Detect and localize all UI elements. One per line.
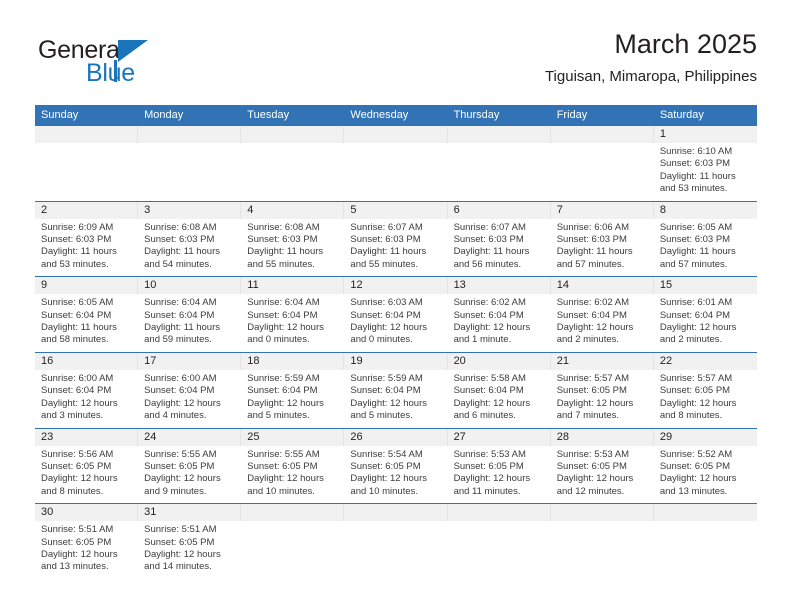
sunset-text: Sunset: 6:04 PM	[41, 310, 132, 322]
sunrise-text: Sunrise: 5:57 AM	[660, 373, 751, 385]
daylight-text: Daylight: 12 hours and 7 minutes.	[557, 398, 648, 423]
calendar-day-cell-empty	[654, 504, 757, 579]
day-details: Sunrise: 5:54 AMSunset: 6:05 PMDaylight:…	[344, 446, 447, 504]
daylight-text: Daylight: 12 hours and 13 minutes.	[41, 549, 132, 574]
daylight-text: Daylight: 12 hours and 8 minutes.	[41, 473, 132, 498]
sunrise-text: Sunrise: 5:55 AM	[247, 449, 338, 461]
calendar-day-cell[interactable]: 10Sunrise: 6:04 AMSunset: 6:04 PMDayligh…	[138, 277, 241, 352]
day-number-band: 29	[654, 429, 757, 446]
daylight-text: Daylight: 12 hours and 13 minutes.	[660, 473, 751, 498]
day-number: 25	[241, 429, 343, 445]
day-number: 4	[241, 202, 343, 218]
day-number: 7	[551, 202, 653, 218]
calendar-day-cell[interactable]: 18Sunrise: 5:59 AMSunset: 6:04 PMDayligh…	[241, 353, 344, 428]
sunset-text: Sunset: 6:04 PM	[557, 310, 648, 322]
calendar-day-cell[interactable]: 6Sunrise: 6:07 AMSunset: 6:03 PMDaylight…	[448, 202, 551, 277]
day-number-band: 22	[654, 353, 757, 370]
day-details: Sunrise: 6:10 AMSunset: 6:03 PMDaylight:…	[654, 143, 757, 201]
day-number-band: 14	[551, 277, 654, 294]
day-details: Sunrise: 5:53 AMSunset: 6:05 PMDaylight:…	[551, 446, 654, 504]
day-details: Sunrise: 6:03 AMSunset: 6:04 PMDaylight:…	[344, 294, 447, 352]
day-number-band: 20	[448, 353, 551, 370]
day-number-band	[344, 504, 447, 521]
day-details: Sunrise: 6:08 AMSunset: 6:03 PMDaylight:…	[138, 219, 241, 277]
sunset-text: Sunset: 6:05 PM	[660, 385, 751, 397]
day-number: 14	[551, 277, 653, 293]
day-number: 13	[448, 277, 550, 293]
calendar-day-cell[interactable]: 23Sunrise: 5:56 AMSunset: 6:05 PMDayligh…	[35, 429, 138, 504]
sunrise-text: Sunrise: 5:59 AM	[247, 373, 338, 385]
page-subtitle: Tiguisan, Mimaropa, Philippines	[545, 67, 757, 87]
calendar-day-cell[interactable]: 3Sunrise: 6:08 AMSunset: 6:03 PMDaylight…	[138, 202, 241, 277]
page-title: March 2025	[545, 28, 757, 60]
daylight-text: Daylight: 12 hours and 2 minutes.	[557, 322, 648, 347]
day-number-band: 9	[35, 277, 138, 294]
calendar-day-cell[interactable]: 7Sunrise: 6:06 AMSunset: 6:03 PMDaylight…	[551, 202, 654, 277]
sunrise-text: Sunrise: 6:00 AM	[144, 373, 235, 385]
daylight-text: Daylight: 11 hours and 57 minutes.	[660, 246, 751, 271]
sunrise-text: Sunrise: 5:52 AM	[660, 449, 751, 461]
calendar-weeks: 1Sunrise: 6:10 AMSunset: 6:03 PMDaylight…	[35, 126, 757, 579]
day-number: 5	[344, 202, 446, 218]
calendar-day-cell[interactable]: 14Sunrise: 6:02 AMSunset: 6:04 PMDayligh…	[551, 277, 654, 352]
calendar-week-row: 30Sunrise: 5:51 AMSunset: 6:05 PMDayligh…	[35, 503, 757, 579]
calendar-day-cell[interactable]: 11Sunrise: 6:04 AMSunset: 6:04 PMDayligh…	[241, 277, 344, 352]
day-number-band: 17	[138, 353, 241, 370]
calendar-day-cell-empty	[551, 126, 654, 201]
sunrise-text: Sunrise: 5:51 AM	[41, 524, 132, 536]
day-details: Sunrise: 5:52 AMSunset: 6:05 PMDaylight:…	[654, 446, 757, 504]
sunset-text: Sunset: 6:04 PM	[247, 385, 338, 397]
day-number-band: 18	[241, 353, 344, 370]
day-number-band: 26	[344, 429, 447, 446]
day-number-band: 28	[551, 429, 654, 446]
calendar-day-cell[interactable]: 1Sunrise: 6:10 AMSunset: 6:03 PMDaylight…	[654, 126, 757, 201]
sunrise-text: Sunrise: 5:56 AM	[41, 449, 132, 461]
daylight-text: Daylight: 12 hours and 11 minutes.	[454, 473, 545, 498]
day-details: Sunrise: 6:00 AMSunset: 6:04 PMDaylight:…	[35, 370, 138, 428]
day-details: Sunrise: 5:59 AMSunset: 6:04 PMDaylight:…	[241, 370, 344, 428]
day-number-band: 4	[241, 202, 344, 219]
day-details	[344, 521, 447, 529]
calendar-day-cell[interactable]: 27Sunrise: 5:53 AMSunset: 6:05 PMDayligh…	[448, 429, 551, 504]
day-number-band: 31	[138, 504, 241, 521]
weekday-header-tuesday: Tuesday	[241, 105, 344, 126]
day-number: 28	[551, 429, 653, 445]
calendar-day-cell[interactable]: 13Sunrise: 6:02 AMSunset: 6:04 PMDayligh…	[448, 277, 551, 352]
calendar-day-cell[interactable]: 20Sunrise: 5:58 AMSunset: 6:04 PMDayligh…	[448, 353, 551, 428]
day-number-band: 21	[551, 353, 654, 370]
calendar-day-cell-empty	[551, 504, 654, 579]
sunset-text: Sunset: 6:04 PM	[247, 310, 338, 322]
calendar-day-cell-empty	[448, 504, 551, 579]
page-header: General Blue March 2025 Tiguisan, Mimaro…	[35, 28, 757, 100]
sunrise-text: Sunrise: 6:04 AM	[247, 297, 338, 309]
day-number: 9	[35, 277, 137, 293]
daylight-text: Daylight: 12 hours and 2 minutes.	[660, 322, 751, 347]
sunset-text: Sunset: 6:04 PM	[144, 310, 235, 322]
day-number: 19	[344, 353, 446, 369]
day-number: 16	[35, 353, 137, 369]
daylight-text: Daylight: 12 hours and 5 minutes.	[247, 398, 338, 423]
day-number: 2	[35, 202, 137, 218]
day-number-band: 10	[138, 277, 241, 294]
sunset-text: Sunset: 6:05 PM	[144, 537, 235, 549]
calendar-day-cell[interactable]: 30Sunrise: 5:51 AMSunset: 6:05 PMDayligh…	[35, 504, 138, 579]
sunrise-text: Sunrise: 5:57 AM	[557, 373, 648, 385]
day-number-band	[448, 504, 551, 521]
day-number-band: 11	[241, 277, 344, 294]
sunset-text: Sunset: 6:05 PM	[41, 537, 132, 549]
day-number: 23	[35, 429, 137, 445]
day-number-band: 7	[551, 202, 654, 219]
day-details: Sunrise: 6:01 AMSunset: 6:04 PMDaylight:…	[654, 294, 757, 352]
daylight-text: Daylight: 11 hours and 55 minutes.	[247, 246, 338, 271]
daylight-text: Daylight: 11 hours and 54 minutes.	[144, 246, 235, 271]
day-number-band	[654, 504, 757, 521]
day-number: 27	[448, 429, 550, 445]
sunset-text: Sunset: 6:04 PM	[454, 310, 545, 322]
sunset-text: Sunset: 6:05 PM	[41, 461, 132, 473]
sunset-text: Sunset: 6:04 PM	[350, 310, 441, 322]
calendar-day-cell[interactable]: 28Sunrise: 5:53 AMSunset: 6:05 PMDayligh…	[551, 429, 654, 504]
sunrise-text: Sunrise: 6:02 AM	[454, 297, 545, 309]
day-details: Sunrise: 6:07 AMSunset: 6:03 PMDaylight:…	[344, 219, 447, 277]
day-number-band: 30	[35, 504, 138, 521]
calendar-day-cell[interactable]: 19Sunrise: 5:59 AMSunset: 6:04 PMDayligh…	[344, 353, 447, 428]
sunset-text: Sunset: 6:03 PM	[144, 234, 235, 246]
daylight-text: Daylight: 11 hours and 53 minutes.	[660, 171, 751, 196]
calendar-page: General Blue March 2025 Tiguisan, Mimaro…	[0, 0, 792, 612]
day-details: Sunrise: 6:02 AMSunset: 6:04 PMDaylight:…	[448, 294, 551, 352]
day-details: Sunrise: 5:55 AMSunset: 6:05 PMDaylight:…	[138, 446, 241, 504]
day-number-band	[551, 504, 654, 521]
calendar-day-cell[interactable]: 22Sunrise: 5:57 AMSunset: 6:05 PMDayligh…	[654, 353, 757, 428]
daylight-text: Daylight: 12 hours and 0 minutes.	[247, 322, 338, 347]
day-number-band: 25	[241, 429, 344, 446]
sunset-text: Sunset: 6:05 PM	[144, 461, 235, 473]
daylight-text: Daylight: 12 hours and 10 minutes.	[350, 473, 441, 498]
weekday-header-row: SundayMondayTuesdayWednesdayThursdayFrid…	[35, 105, 757, 126]
day-number-band: 5	[344, 202, 447, 219]
sunset-text: Sunset: 6:05 PM	[247, 461, 338, 473]
day-number-band: 3	[138, 202, 241, 219]
day-details	[448, 521, 551, 529]
sunrise-text: Sunrise: 6:05 AM	[41, 297, 132, 309]
sunrise-text: Sunrise: 5:53 AM	[454, 449, 545, 461]
day-number-band: 24	[138, 429, 241, 446]
calendar-day-cell-empty	[241, 126, 344, 201]
daylight-text: Daylight: 12 hours and 1 minute.	[454, 322, 545, 347]
calendar-day-cell[interactable]: 26Sunrise: 5:54 AMSunset: 6:05 PMDayligh…	[344, 429, 447, 504]
calendar-week-row: 23Sunrise: 5:56 AMSunset: 6:05 PMDayligh…	[35, 428, 757, 504]
sunrise-text: Sunrise: 6:10 AM	[660, 146, 751, 158]
sunset-text: Sunset: 6:03 PM	[247, 234, 338, 246]
day-number: 29	[654, 429, 757, 445]
calendar-day-cell-empty	[241, 504, 344, 579]
calendar-day-cell-empty	[448, 126, 551, 201]
day-number-band: 23	[35, 429, 138, 446]
day-details: Sunrise: 6:04 AMSunset: 6:04 PMDaylight:…	[138, 294, 241, 352]
sunrise-text: Sunrise: 5:51 AM	[144, 524, 235, 536]
sunrise-text: Sunrise: 6:04 AM	[144, 297, 235, 309]
sunrise-text: Sunrise: 5:54 AM	[350, 449, 441, 461]
weekday-header-wednesday: Wednesday	[344, 105, 447, 126]
calendar-week-row: 1Sunrise: 6:10 AMSunset: 6:03 PMDaylight…	[35, 126, 757, 201]
sunrise-text: Sunrise: 6:08 AM	[247, 222, 338, 234]
day-details	[448, 143, 551, 151]
sunrise-text: Sunrise: 6:09 AM	[41, 222, 132, 234]
sunrise-text: Sunrise: 5:59 AM	[350, 373, 441, 385]
sunrise-text: Sunrise: 6:07 AM	[454, 222, 545, 234]
day-number-band	[241, 504, 344, 521]
day-number-band	[138, 126, 241, 143]
day-number: 15	[654, 277, 757, 293]
calendar-day-cell[interactable]: 15Sunrise: 6:01 AMSunset: 6:04 PMDayligh…	[654, 277, 757, 352]
daylight-text: Daylight: 12 hours and 0 minutes.	[350, 322, 441, 347]
sunrise-text: Sunrise: 5:53 AM	[557, 449, 648, 461]
day-details: Sunrise: 5:51 AMSunset: 6:05 PMDaylight:…	[138, 521, 241, 579]
sunrise-text: Sunrise: 6:03 AM	[350, 297, 441, 309]
day-details	[241, 143, 344, 151]
day-details	[654, 521, 757, 529]
sunset-text: Sunset: 6:05 PM	[557, 385, 648, 397]
day-number-band: 2	[35, 202, 138, 219]
calendar-day-cell-empty	[35, 126, 138, 201]
day-details: Sunrise: 5:58 AMSunset: 6:04 PMDaylight:…	[448, 370, 551, 428]
calendar-day-cell[interactable]: 17Sunrise: 6:00 AMSunset: 6:04 PMDayligh…	[138, 353, 241, 428]
day-number-band	[551, 126, 654, 143]
sunset-text: Sunset: 6:03 PM	[454, 234, 545, 246]
calendar-day-cell[interactable]: 2Sunrise: 6:09 AMSunset: 6:03 PMDaylight…	[35, 202, 138, 277]
daylight-text: Daylight: 12 hours and 9 minutes.	[144, 473, 235, 498]
day-number-band: 12	[344, 277, 447, 294]
sunset-text: Sunset: 6:03 PM	[660, 158, 751, 170]
sunset-text: Sunset: 6:05 PM	[660, 461, 751, 473]
day-number-band	[344, 126, 447, 143]
day-number: 17	[138, 353, 240, 369]
calendar-day-cell-empty	[138, 126, 241, 201]
daylight-text: Daylight: 11 hours and 53 minutes.	[41, 246, 132, 271]
day-details: Sunrise: 6:05 AMSunset: 6:04 PMDaylight:…	[35, 294, 138, 352]
calendar-day-cell[interactable]: 8Sunrise: 6:05 AMSunset: 6:03 PMDaylight…	[654, 202, 757, 277]
daylight-text: Daylight: 11 hours and 55 minutes.	[350, 246, 441, 271]
day-number-band: 15	[654, 277, 757, 294]
calendar-day-cell[interactable]: 16Sunrise: 6:00 AMSunset: 6:04 PMDayligh…	[35, 353, 138, 428]
sunrise-text: Sunrise: 6:06 AM	[557, 222, 648, 234]
weekday-header-monday: Monday	[138, 105, 241, 126]
day-number: 1	[654, 126, 757, 142]
day-details	[35, 143, 138, 151]
day-details: Sunrise: 5:57 AMSunset: 6:05 PMDaylight:…	[551, 370, 654, 428]
calendar-day-cell[interactable]: 9Sunrise: 6:05 AMSunset: 6:04 PMDaylight…	[35, 277, 138, 352]
day-number: 6	[448, 202, 550, 218]
calendar-day-cell[interactable]: 12Sunrise: 6:03 AMSunset: 6:04 PMDayligh…	[344, 277, 447, 352]
day-number: 12	[344, 277, 446, 293]
day-number: 31	[138, 504, 240, 520]
logo-text-blue: Blue	[86, 59, 135, 88]
day-details: Sunrise: 5:53 AMSunset: 6:05 PMDaylight:…	[448, 446, 551, 504]
day-details: Sunrise: 6:09 AMSunset: 6:03 PMDaylight:…	[35, 219, 138, 277]
general-blue-logo[interactable]: General Blue	[35, 36, 265, 94]
sunrise-text: Sunrise: 6:08 AM	[144, 222, 235, 234]
daylight-text: Daylight: 11 hours and 57 minutes.	[557, 246, 648, 271]
daylight-text: Daylight: 12 hours and 14 minutes.	[144, 549, 235, 574]
day-details: Sunrise: 5:56 AMSunset: 6:05 PMDaylight:…	[35, 446, 138, 504]
sunrise-text: Sunrise: 5:58 AM	[454, 373, 545, 385]
day-number-band: 13	[448, 277, 551, 294]
day-number: 24	[138, 429, 240, 445]
sunrise-text: Sunrise: 6:02 AM	[557, 297, 648, 309]
calendar-day-cell-empty	[344, 504, 447, 579]
calendar-day-cell[interactable]: 21Sunrise: 5:57 AMSunset: 6:05 PMDayligh…	[551, 353, 654, 428]
daylight-text: Daylight: 12 hours and 8 minutes.	[660, 398, 751, 423]
day-number-band: 6	[448, 202, 551, 219]
day-details: Sunrise: 6:06 AMSunset: 6:03 PMDaylight:…	[551, 219, 654, 277]
daylight-text: Daylight: 12 hours and 12 minutes.	[557, 473, 648, 498]
weekday-header-saturday: Saturday	[654, 105, 757, 126]
title-block: March 2025 Tiguisan, Mimaropa, Philippin…	[545, 28, 757, 87]
day-details: Sunrise: 5:51 AMSunset: 6:05 PMDaylight:…	[35, 521, 138, 579]
calendar-day-cell[interactable]: 24Sunrise: 5:55 AMSunset: 6:05 PMDayligh…	[138, 429, 241, 504]
day-number-band: 1	[654, 126, 757, 143]
sunset-text: Sunset: 6:05 PM	[350, 461, 441, 473]
calendar-day-cell[interactable]: 29Sunrise: 5:52 AMSunset: 6:05 PMDayligh…	[654, 429, 757, 504]
day-number-band: 8	[654, 202, 757, 219]
day-number: 21	[551, 353, 653, 369]
sunset-text: Sunset: 6:03 PM	[660, 234, 751, 246]
day-details: Sunrise: 6:05 AMSunset: 6:03 PMDaylight:…	[654, 219, 757, 277]
day-number-band	[241, 126, 344, 143]
day-details: Sunrise: 5:57 AMSunset: 6:05 PMDaylight:…	[654, 370, 757, 428]
daylight-text: Daylight: 12 hours and 3 minutes.	[41, 398, 132, 423]
daylight-text: Daylight: 11 hours and 59 minutes.	[144, 322, 235, 347]
daylight-text: Daylight: 12 hours and 10 minutes.	[247, 473, 338, 498]
day-number-band	[35, 126, 138, 143]
day-number-band: 16	[35, 353, 138, 370]
day-number: 10	[138, 277, 240, 293]
sunset-text: Sunset: 6:04 PM	[660, 310, 751, 322]
day-number: 3	[138, 202, 240, 218]
calendar-day-cell[interactable]: 25Sunrise: 5:55 AMSunset: 6:05 PMDayligh…	[241, 429, 344, 504]
day-details: Sunrise: 5:59 AMSunset: 6:04 PMDaylight:…	[344, 370, 447, 428]
weekday-header-sunday: Sunday	[35, 105, 138, 126]
sunrise-text: Sunrise: 6:01 AM	[660, 297, 751, 309]
sunset-text: Sunset: 6:03 PM	[557, 234, 648, 246]
day-details	[551, 521, 654, 529]
calendar-day-cell[interactable]: 31Sunrise: 5:51 AMSunset: 6:05 PMDayligh…	[138, 504, 241, 579]
sunset-text: Sunset: 6:03 PM	[41, 234, 132, 246]
day-number: 20	[448, 353, 550, 369]
daylight-text: Daylight: 11 hours and 58 minutes.	[41, 322, 132, 347]
day-number-band: 19	[344, 353, 447, 370]
calendar-week-row: 9Sunrise: 6:05 AMSunset: 6:04 PMDaylight…	[35, 276, 757, 352]
calendar-week-row: 16Sunrise: 6:00 AMSunset: 6:04 PMDayligh…	[35, 352, 757, 428]
day-details: Sunrise: 6:04 AMSunset: 6:04 PMDaylight:…	[241, 294, 344, 352]
daylight-text: Daylight: 12 hours and 4 minutes.	[144, 398, 235, 423]
weekday-header-thursday: Thursday	[448, 105, 551, 126]
calendar-day-cell[interactable]: 4Sunrise: 6:08 AMSunset: 6:03 PMDaylight…	[241, 202, 344, 277]
daylight-text: Daylight: 11 hours and 56 minutes.	[454, 246, 545, 271]
sunset-text: Sunset: 6:05 PM	[454, 461, 545, 473]
calendar-day-cell[interactable]: 5Sunrise: 6:07 AMSunset: 6:03 PMDaylight…	[344, 202, 447, 277]
day-details: Sunrise: 6:07 AMSunset: 6:03 PMDaylight:…	[448, 219, 551, 277]
calendar-day-cell-empty	[344, 126, 447, 201]
day-details	[138, 143, 241, 151]
sunrise-text: Sunrise: 6:00 AM	[41, 373, 132, 385]
day-number: 8	[654, 202, 757, 218]
day-details: Sunrise: 6:00 AMSunset: 6:04 PMDaylight:…	[138, 370, 241, 428]
sunrise-text: Sunrise: 6:05 AM	[660, 222, 751, 234]
sunset-text: Sunset: 6:04 PM	[454, 385, 545, 397]
day-number: 18	[241, 353, 343, 369]
sunset-text: Sunset: 6:04 PM	[350, 385, 441, 397]
sunset-text: Sunset: 6:04 PM	[144, 385, 235, 397]
day-details	[241, 521, 344, 529]
day-details	[551, 143, 654, 151]
calendar-grid: SundayMondayTuesdayWednesdayThursdayFrid…	[35, 105, 757, 579]
calendar-week-row: 2Sunrise: 6:09 AMSunset: 6:03 PMDaylight…	[35, 201, 757, 277]
day-details	[344, 143, 447, 151]
sunrise-text: Sunrise: 5:55 AM	[144, 449, 235, 461]
day-details: Sunrise: 6:08 AMSunset: 6:03 PMDaylight:…	[241, 219, 344, 277]
sunset-text: Sunset: 6:04 PM	[41, 385, 132, 397]
day-details: Sunrise: 5:55 AMSunset: 6:05 PMDaylight:…	[241, 446, 344, 504]
sunset-text: Sunset: 6:03 PM	[350, 234, 441, 246]
weekday-header-friday: Friday	[551, 105, 654, 126]
day-number: 11	[241, 277, 343, 293]
day-number: 26	[344, 429, 446, 445]
sunrise-text: Sunrise: 6:07 AM	[350, 222, 441, 234]
day-number-band	[448, 126, 551, 143]
sunset-text: Sunset: 6:05 PM	[557, 461, 648, 473]
day-number: 22	[654, 353, 757, 369]
day-number: 30	[35, 504, 137, 520]
daylight-text: Daylight: 12 hours and 5 minutes.	[350, 398, 441, 423]
daylight-text: Daylight: 12 hours and 6 minutes.	[454, 398, 545, 423]
day-details: Sunrise: 6:02 AMSunset: 6:04 PMDaylight:…	[551, 294, 654, 352]
day-number-band: 27	[448, 429, 551, 446]
